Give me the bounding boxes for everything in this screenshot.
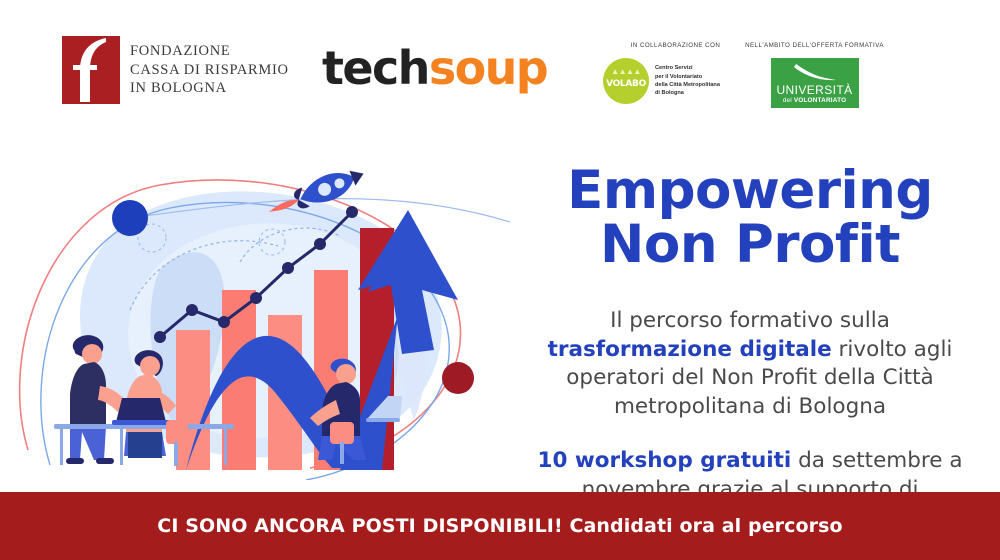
universita-badge-volontariato: VOLONTARIATO — [794, 97, 846, 104]
volabo-figures-icon: ▲▲▲▲ — [603, 67, 649, 76]
blue-dot — [112, 200, 148, 236]
description-segment-1: Il percorso formativo sulla — [610, 308, 890, 333]
carisbo-line-2: CASSA DI RISPARMIO — [130, 61, 289, 80]
partner-volabo-block: IN COLLABORAZIONE CON ▲▲▲▲ VOLABO Centro… — [603, 42, 748, 104]
universita-volontariato-logo: UNIVERSITÀ del VOLONTARIATO — [771, 58, 859, 108]
volabo-desc-line-2: per il Volontariato — [655, 73, 720, 81]
techsoup-logo: techsoup — [322, 45, 547, 91]
red-dot — [442, 362, 474, 394]
partner-universita-caption: NELL'AMBITO DELL'OFFERTA FORMATIVA — [742, 42, 887, 49]
page-title: Empowering Non Profit — [520, 164, 980, 272]
main-text-column: Empowering Non Profit Il percorso format… — [520, 128, 980, 555]
volabo-desc-line-3: della Città Metropolitana — [655, 81, 720, 89]
description-highlight-digitale: trasformazione digitale — [548, 337, 832, 362]
universita-badge-del: del — [783, 97, 794, 104]
offer-highlight-workshop: 10 workshop gratuiti — [538, 448, 792, 473]
business-growth-illustration — [10, 150, 530, 480]
partner-universita-block: NELL'AMBITO DELL'OFFERTA FORMATIVA UNIVE… — [742, 42, 887, 108]
universita-badge-line-2: del VOLONTARIATO — [783, 97, 847, 105]
cta-banner[interactable]: CI SONO ANCORA POSTI DISPONIBILI! Candid… — [0, 492, 1000, 560]
fondazione-carisbo-logo: FONDAZIONE CASSA DI RISPARMIO IN BOLOGNA — [62, 36, 289, 104]
headline-line-2: Non Profit — [520, 218, 980, 272]
carisbo-f-mark-icon — [62, 36, 120, 104]
volabo-description: Centro Servizi per il Volontariato della… — [655, 64, 720, 98]
volabo-logo: ▲▲▲▲ VOLABO Centro Servizi per il Volont… — [603, 58, 748, 104]
bird-icon — [792, 63, 838, 85]
carisbo-line-3: IN BOLOGNA — [130, 79, 289, 98]
techsoup-logo-part-soup: soup — [429, 41, 547, 95]
headline-line-1: Empowering — [567, 160, 933, 221]
volabo-desc-line-4: di Bologna — [655, 89, 720, 97]
universita-badge-line-1: UNIVERSITÀ — [776, 84, 852, 96]
volabo-badge-icon: ▲▲▲▲ VOLABO — [603, 58, 649, 104]
carisbo-wordmark: FONDAZIONE CASSA DI RISPARMIO IN BOLOGNA — [130, 42, 289, 98]
carisbo-line-1: FONDAZIONE — [130, 42, 289, 61]
techsoup-logo-part-tech: tech — [322, 41, 429, 95]
volabo-badge-text: VOLABO — [606, 80, 646, 89]
partner-volabo-caption: IN COLLABORAZIONE CON — [603, 42, 748, 49]
promo-poster: FONDAZIONE CASSA DI RISPARMIO IN BOLOGNA… — [0, 0, 1000, 560]
volabo-desc-line-1: Centro Servizi — [655, 64, 720, 72]
cta-banner-text: CI SONO ANCORA POSTI DISPONIBILI! Candid… — [157, 515, 842, 537]
description-paragraph: Il percorso formativo sulla trasformazio… — [520, 307, 980, 421]
